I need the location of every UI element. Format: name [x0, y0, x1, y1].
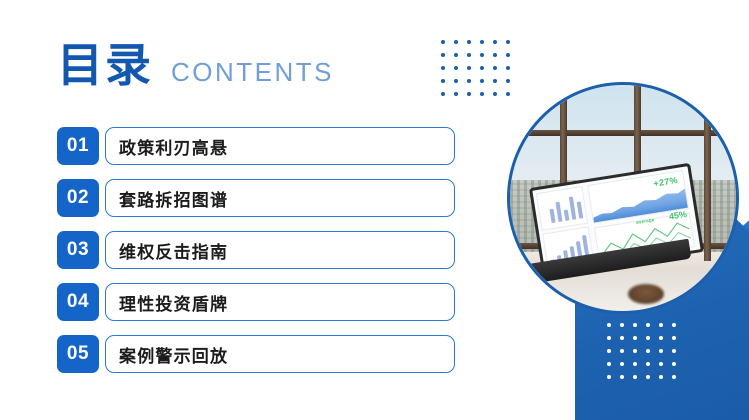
contents-slide: +27% average 45%	[0, 0, 749, 420]
toc-item-label: 政策利刃高悬	[119, 134, 228, 159]
toc-item-label: 理性投资盾牌	[119, 290, 228, 315]
toc-item-01[interactable]: 01 政策利刃高悬	[57, 126, 455, 166]
coffee-cup	[628, 284, 664, 304]
toc-label-box[interactable]: 案例警示回放	[105, 335, 455, 373]
dot-grid-bottom	[607, 323, 676, 379]
toc-number-badge: 05	[57, 335, 99, 373]
toc-number-badge: 04	[57, 283, 99, 321]
toc-label-box[interactable]: 理性投资盾牌	[105, 283, 455, 321]
toc-item-label: 案例警示回放	[119, 342, 228, 367]
toc-number-badge: 01	[57, 127, 99, 165]
bar-chart-bars	[541, 194, 584, 225]
screen-pane-bar-chart	[536, 187, 588, 231]
page-title: 目录 CONTENTS	[57, 42, 334, 88]
toc-item-label: 维权反击指南	[119, 238, 228, 263]
toc-label-box[interactable]: 政策利刃高悬	[105, 127, 455, 165]
window-rail-top	[510, 130, 736, 136]
photo-inner: +27% average 45%	[510, 85, 736, 311]
circular-photo: +27% average 45%	[507, 82, 739, 314]
toc-label-box[interactable]: 维权反击指南	[105, 231, 455, 269]
toc-item-02[interactable]: 02 套路拆招图谱	[57, 178, 455, 218]
dot-grid-top	[441, 40, 510, 96]
table-of-contents: 01 政策利刃高悬 02 套路拆招图谱 03 维权反击指南 04 理性投资盾牌 …	[57, 126, 455, 386]
toc-number-badge: 02	[57, 179, 99, 217]
toc-label-box[interactable]: 套路拆招图谱	[105, 179, 455, 217]
toc-item-03[interactable]: 03 维权反击指南	[57, 230, 455, 270]
page-title-zh: 目录	[57, 42, 153, 88]
page-title-en: CONTENTS	[171, 57, 334, 88]
toc-item-04[interactable]: 04 理性投资盾牌	[57, 282, 455, 322]
toc-item-label: 套路拆招图谱	[119, 186, 228, 211]
window-mullion-3	[704, 85, 711, 261]
growth-percent-label: +27%	[653, 176, 679, 190]
toc-item-05[interactable]: 05 案例警示回放	[57, 334, 455, 374]
toc-number-badge: 03	[57, 231, 99, 269]
